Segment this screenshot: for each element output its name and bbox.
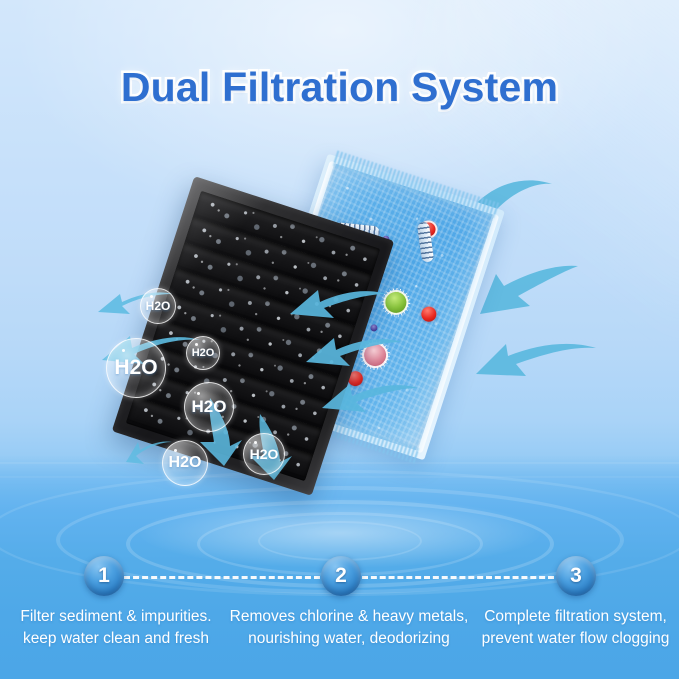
h2o-label: H2O bbox=[169, 454, 202, 472]
inflow-arrow-bottom bbox=[460, 338, 600, 398]
h2o-bubble: H2O bbox=[140, 288, 176, 324]
page-title: Dual Filtration System bbox=[0, 64, 679, 111]
water-ripple bbox=[258, 521, 422, 561]
step-badge-1: 1 bbox=[84, 556, 124, 596]
step-badge-2: 2 bbox=[321, 556, 361, 596]
water-band bbox=[0, 476, 679, 478]
h2o-bubble: H2O bbox=[243, 433, 285, 475]
step-number: 3 bbox=[570, 564, 582, 588]
h2o-label: H2O bbox=[192, 397, 227, 417]
bubble-sparkle bbox=[122, 349, 125, 352]
bubble-sparkle bbox=[195, 343, 198, 346]
water-band bbox=[0, 462, 679, 464]
step-connector-1-2 bbox=[124, 576, 320, 579]
step-number: 2 bbox=[335, 564, 347, 588]
caption-line: nourishing water, deodorizing bbox=[224, 628, 474, 650]
step-badge-3: 3 bbox=[556, 556, 596, 596]
h2o-bubble: H2O bbox=[186, 336, 220, 370]
step-caption-3: Complete filtration system, prevent wate… bbox=[474, 606, 677, 651]
infographic-canvas: Dual Filtration System bbox=[0, 0, 679, 679]
h2o-label: H2O bbox=[250, 446, 279, 462]
h2o-label: H2O bbox=[114, 356, 157, 380]
bubble-sparkle bbox=[254, 441, 257, 444]
caption-line: prevent water flow clogging bbox=[474, 628, 677, 650]
bubble-sparkle bbox=[174, 449, 177, 452]
h2o-label: H2O bbox=[146, 299, 171, 313]
caption-line: Removes chlorine & heavy metals, bbox=[224, 606, 474, 628]
step-caption-1: Filter sediment & impurities. keep water… bbox=[8, 606, 224, 651]
h2o-bubble: H2O bbox=[184, 382, 234, 432]
step-connector-2-3 bbox=[362, 576, 554, 579]
caption-line: Filter sediment & impurities. bbox=[8, 606, 224, 628]
bubble-sparkle bbox=[150, 295, 153, 298]
bubble-sparkle bbox=[197, 392, 200, 395]
step-number: 1 bbox=[98, 564, 110, 588]
h2o-label: H2O bbox=[192, 347, 215, 359]
caption-line: Complete filtration system, bbox=[474, 606, 677, 628]
h2o-bubble: H2O bbox=[162, 440, 208, 486]
h2o-bubble: H2O bbox=[106, 338, 166, 398]
caption-line: keep water clean and fresh bbox=[8, 628, 224, 650]
step-caption-2: Removes chlorine & heavy metals, nourish… bbox=[224, 606, 474, 651]
